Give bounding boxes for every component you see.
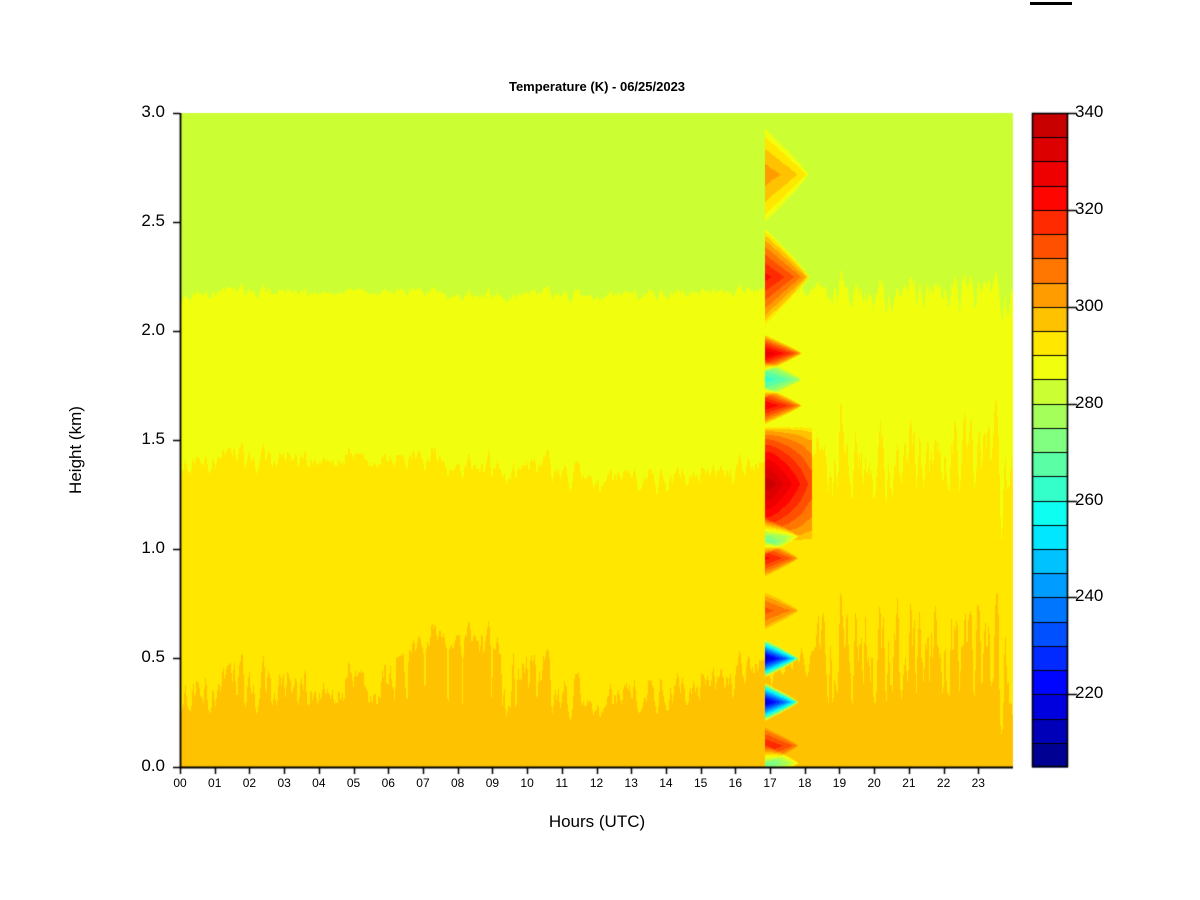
temperature-contour-canvas xyxy=(0,0,1200,900)
temperature-time-height-figure: Temperature (K) - 06/25/2023 Hours (UTC)… xyxy=(0,0,1200,900)
